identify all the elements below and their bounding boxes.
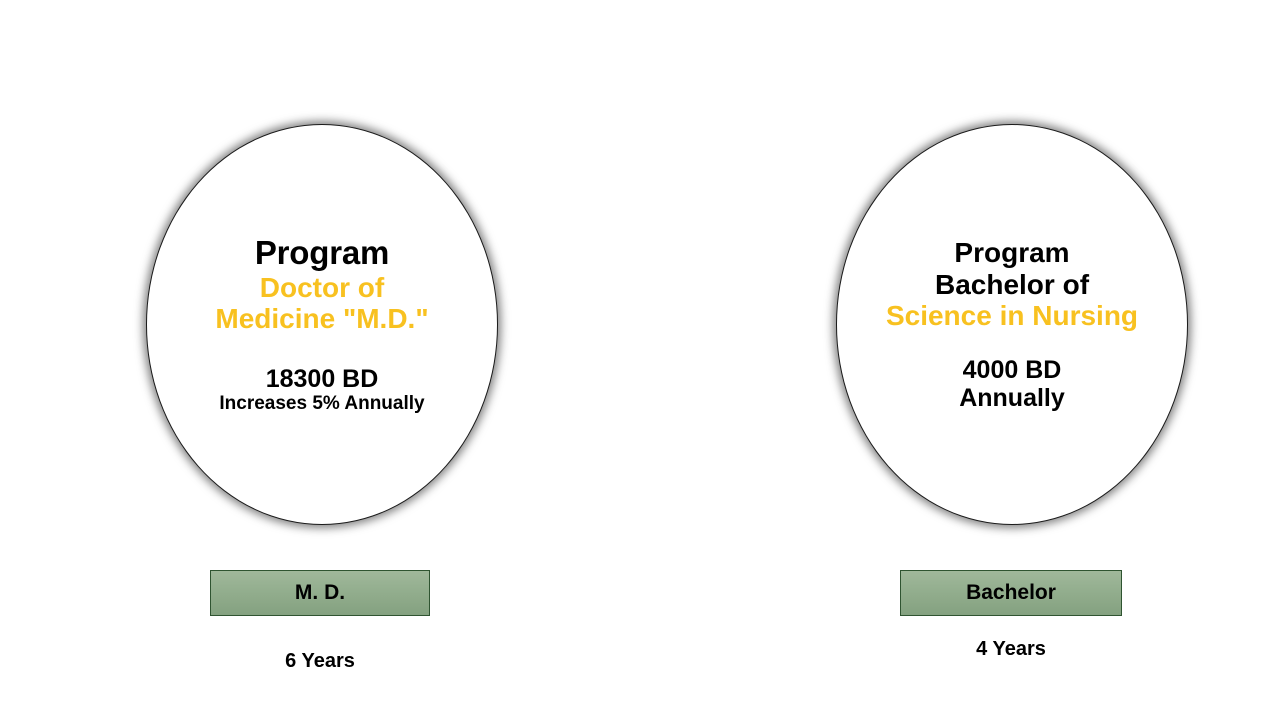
program-name-line1-bsn: Bachelor of [935,269,1089,300]
program-name-line1-md: Doctor of [260,272,384,303]
program-fee-note-md: Increases 5% Annually [219,393,424,414]
program-title-bsn: Program [954,237,1069,268]
program-fee-bsn: 4000 BD [963,356,1062,384]
program-title-md: Program [255,235,389,272]
duration-caption-bsn: 4 Years [900,638,1122,661]
degree-bar-md[interactable]: M. D. [210,570,430,616]
ellipse-content-md: Program Doctor of Medicine "M.D." 18300 … [146,124,498,525]
program-node-bsn[interactable]: Program Bachelor of Science in Nursing 4… [836,124,1188,525]
degree-bar-label-md: M. D. [295,581,345,605]
diagram-canvas: Program Doctor of Medicine "M.D." 18300 … [0,0,1280,720]
program-fee-note-bsn: Annually [959,384,1065,412]
program-name-line2-bsn: Science in Nursing [886,300,1138,331]
program-node-md[interactable]: Program Doctor of Medicine "M.D." 18300 … [146,124,498,525]
program-name-line2-md: Medicine "M.D." [215,303,428,334]
degree-bar-bsn[interactable]: Bachelor [900,570,1122,616]
program-fee-md: 18300 BD [266,365,379,393]
ellipse-content-bsn: Program Bachelor of Science in Nursing 4… [836,124,1188,525]
duration-caption-md: 6 Years [210,650,430,673]
degree-bar-label-bsn: Bachelor [966,581,1056,605]
